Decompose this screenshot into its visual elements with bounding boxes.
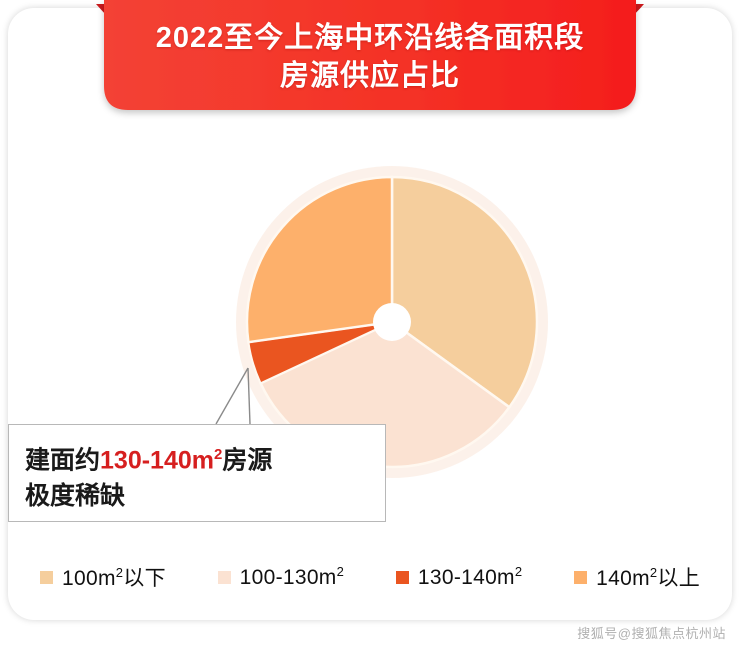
callout-line-2: 极度稀缺 — [25, 478, 385, 514]
chart-legend: 100m2以下 100-130m2 130-140m2 140m2以上 — [40, 562, 700, 592]
callout-highlight: 130-140m — [100, 446, 214, 474]
banner-title-line2: 房源供应占比 — [110, 57, 630, 95]
banner-title: 2022至今上海中环沿线各面积段 房源供应占比 — [110, 19, 630, 95]
legend-swatch-icon — [396, 571, 409, 584]
legend-item[interactable]: 140m2以上 — [574, 562, 700, 592]
callout-leader-line-left — [216, 368, 248, 424]
legend-swatch-icon — [574, 571, 587, 584]
legend-item-label: 140m2以上 — [596, 562, 700, 592]
callout-prefix: 建面约 — [25, 446, 100, 474]
infographic-root: 2022至今上海中环沿线各面积段 房源供应占比 建面约130-140m2房 — [0, 0, 740, 647]
legend-item[interactable]: 100m2以下 — [40, 562, 166, 592]
pie-chart — [0, 0, 740, 647]
callout-line-1: 建面约130-140m2房源 — [25, 437, 385, 478]
legend-swatch-icon — [218, 571, 231, 584]
watermark: 搜狐号@搜狐焦点杭州站 — [577, 623, 726, 642]
legend-item-label: 100m2以下 — [62, 562, 166, 592]
legend-item-label: 100-130m2 — [240, 564, 345, 590]
legend-item-label: 130-140m2 — [418, 564, 523, 590]
pie-slice-over-140 — [247, 177, 392, 342]
legend-item[interactable]: 130-140m2 — [396, 564, 523, 590]
callout-box: 建面约130-140m2房源 极度稀缺 — [8, 424, 386, 522]
legend-item[interactable]: 100-130m2 — [218, 564, 345, 590]
callout-suffix: 房源 — [222, 446, 272, 474]
banner-title-line1: 2022至今上海中环沿线各面积段 — [110, 19, 630, 57]
legend-swatch-icon — [40, 571, 53, 584]
pie-center-hole — [373, 303, 411, 341]
